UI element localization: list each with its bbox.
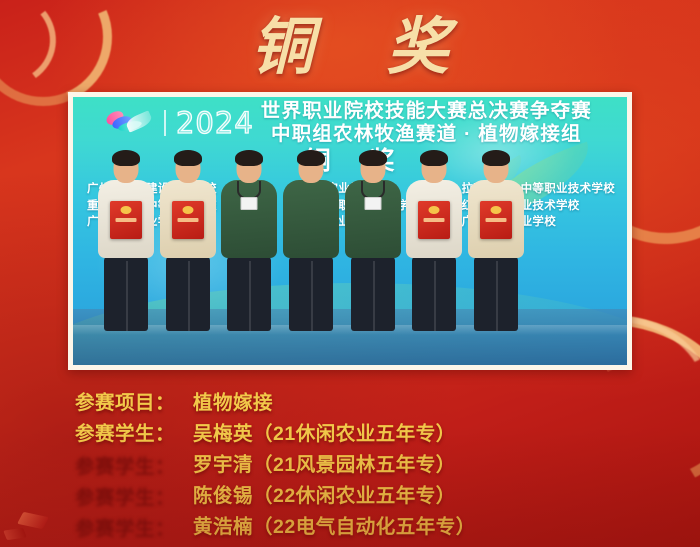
certificate-icon (172, 201, 204, 239)
recipient-person (404, 153, 466, 343)
page-title: 铜 奖 (0, 8, 700, 86)
recipient-person (342, 153, 404, 343)
students-line: 参赛学生： 黄浩楠（22电气自动化五年专） (0, 510, 700, 541)
banner-title-line2: 中职组农林牧渔赛道 · 植物嫁接组 (261, 123, 592, 146)
banner-title-group: 世界职业院校技能大赛总决赛争夺赛 中职组农林牧渔赛道 · 植物嫁接组 (261, 101, 592, 146)
award-recipients-row (95, 153, 527, 343)
advisors-label: 指导老师： (0, 541, 193, 547)
advisors-value: 郑君强 傅鸿达 (193, 541, 700, 547)
certificate-icon (418, 201, 450, 239)
students-label-spacer: 参赛学生： (0, 448, 193, 477)
students-label: 参赛学生： (0, 417, 193, 446)
students-label-spacer: 参赛学生： (0, 510, 193, 539)
project-value: 植物嫁接 (193, 386, 700, 415)
stage-banner-header-row: 2024 世界职业院校技能大赛总决赛争夺赛 中职组农林牧渔赛道 · 植物嫁接组 (73, 101, 627, 146)
students-line: 参赛学生： 陈俊锡（22休闲农业五年专） (0, 479, 700, 510)
student-name: 罗宇清（21风景园林五年专） (193, 448, 700, 477)
banner-year: 2024 (176, 109, 254, 138)
ceremony-photo: 2024 世界职业院校技能大赛总决赛争夺赛 中职组农林牧渔赛道 · 植物嫁接组 … (73, 97, 627, 365)
recipient-person (280, 153, 342, 343)
student-name: 吴梅英（21休闲农业五年专） (193, 417, 700, 446)
ceremony-photo-card: 2024 世界职业院校技能大赛总决赛争夺赛 中职组农林牧渔赛道 · 植物嫁接组 … (68, 92, 632, 370)
students-label-spacer: 参赛学生： (0, 479, 193, 508)
recipient-person (465, 153, 527, 343)
recipient-person (218, 153, 280, 343)
award-poster: 铜 奖 2024 世界职业院校技能大赛总决赛争夺赛 (0, 0, 700, 547)
project-label: 参赛项目： (0, 386, 193, 415)
banner-title-line1: 世界职业院校技能大赛总决赛争夺赛 (261, 101, 592, 122)
students-line: 参赛学生： 罗宇清（21风景园林五年专） (0, 448, 700, 479)
project-line: 参赛项目： 植物嫁接 (0, 386, 700, 417)
certificate-icon (110, 201, 142, 239)
student-name: 陈俊锡（22休闲农业五年专） (193, 479, 700, 508)
logo-divider (164, 110, 166, 136)
recipient-person (95, 153, 157, 343)
advisors-line: 指导老师： 郑君强 傅鸿达 (0, 541, 700, 547)
details-block: 参赛项目： 植物嫁接 参赛学生： 吴梅英（21休闲农业五年专） 参赛学生： 罗宇… (0, 386, 700, 547)
competition-swoosh-logo-icon (102, 109, 154, 137)
certificate-icon (480, 201, 512, 239)
student-name: 黄浩楠（22电气自动化五年专） (193, 510, 700, 539)
students-line: 参赛学生： 吴梅英（21休闲农业五年专） (0, 417, 700, 448)
recipient-person (157, 153, 219, 343)
